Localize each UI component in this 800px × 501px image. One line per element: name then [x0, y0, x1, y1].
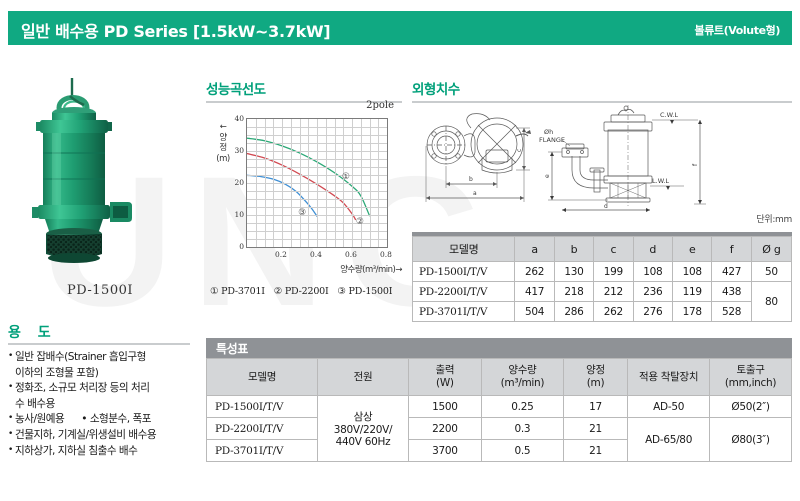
cell-output: 3700 — [408, 440, 481, 462]
usage-item-3: 수 배수용 — [15, 398, 55, 410]
cell-d: 236 — [633, 282, 672, 302]
performance-chart: 2pole ←양정(m) 010203040 ①②③ 0.20.40.60.8 … — [206, 100, 402, 315]
usage-item-0: 일반 잡배수(Strainer 흡입구형 — [15, 351, 146, 363]
col-header-output-line2: (W) — [436, 377, 454, 389]
page-header-bar: 일반 배수용 PD Series [1.5kW~3.7kW] 볼류트(Volut… — [8, 11, 792, 45]
dim-label-e: e — [544, 174, 551, 178]
usage-item-4: 농사/원예용 — [15, 413, 64, 425]
power-line-2: 380V/220V/ — [334, 424, 393, 436]
col-header-head-line2: (m) — [587, 377, 605, 389]
grid-line-horizontal — [247, 159, 387, 160]
table-header-row: 모델명 전원 출력 (W) 양수량 (m³/min) 양정 — [207, 359, 792, 396]
cell-e: 108 — [672, 262, 711, 282]
cell-e: 119 — [672, 282, 711, 302]
cell-model: PD-3701Ⅰ/T/V — [207, 440, 318, 462]
col-header-outlet: 토출구 (mm,inch) — [710, 359, 792, 396]
cell-a: 417 — [515, 282, 554, 302]
col-header-a: a — [515, 237, 554, 262]
cell-device: AD-65/80 — [628, 418, 710, 462]
dimension-drawings: c b a — [412, 100, 792, 220]
cell-a: 262 — [515, 262, 554, 282]
header-type-label: 볼류트(Volute형) — [694, 22, 780, 38]
cell-outlet: Ø50(2″) — [710, 396, 792, 418]
cell-head: 21 — [563, 418, 627, 440]
y-tick-label: 40 — [226, 114, 244, 123]
usage-item-1: 이하의 조형물 포함) — [15, 367, 98, 379]
col-header-f: f — [712, 237, 751, 262]
col-header-g: Ø g — [751, 237, 791, 262]
chart-y-ticks: 010203040 — [224, 100, 244, 270]
x-tick-label: 0.6 — [345, 250, 357, 259]
col-header-output-line1: 출력 — [436, 364, 455, 376]
cell-model: PD-3701Ⅰ/T/V — [413, 302, 515, 322]
spec-table-title: 특성표 — [206, 342, 248, 356]
product-datasheet-page: UNG 일반 배수용 PD Series [1.5kW~3.7kW] 볼류트(V… — [0, 0, 800, 501]
table-row: PD-1500Ⅰ/T/V 262 130 199 108 108 427 50 — [413, 262, 792, 282]
table-row: PD-2200Ⅰ/T/V 2200 0.3 21 AD-65/80 Ø80(3″… — [207, 418, 792, 440]
usage-list: 일반 잡배수(Strainer 흡입구형 이하의 조형물 포함) 정화조, 소규… — [8, 350, 200, 459]
x-tick-label: 0.2 — [275, 250, 287, 259]
dim-label-b: b — [469, 176, 473, 183]
cell-model: PD-2200Ⅰ/T/V — [207, 418, 318, 440]
dimension-table: 모델명 a b c d e f Ø g PD-1500Ⅰ/T/V 262 130… — [412, 232, 792, 322]
list-item: 정화조, 소규모 처리장 등의 처리 수 배수용 — [8, 381, 200, 412]
cell-d: 108 — [633, 262, 672, 282]
cell-model: PD-1500Ⅰ/T/V — [207, 396, 318, 418]
grid-line-horizontal — [247, 167, 387, 168]
cell-head: 21 — [563, 440, 627, 462]
col-header-model: 모델명 — [207, 359, 318, 396]
grid-line-horizontal — [247, 231, 387, 232]
power-line-3: 440V 60Hz — [336, 436, 391, 448]
cell-b: 130 — [554, 262, 593, 282]
dim-label-f: f — [692, 163, 699, 166]
grid-line-horizontal — [247, 151, 387, 152]
side-view-drawing: Øh FLANGE C.W.L L.W.L f — [539, 105, 706, 212]
power-line-1: 삼상 — [354, 411, 373, 423]
usage-title-rule — [8, 343, 190, 345]
grid-line-horizontal — [247, 191, 387, 192]
x-tick-label: 0.4 — [310, 250, 322, 259]
spec-table-header-bar: 특성표 — [206, 338, 792, 358]
section-title-text: 성능곡선도 — [206, 78, 402, 98]
specification-table: 모델명 전원 출력 (W) 양수량 (m³/min) 양정 — [206, 358, 792, 462]
legend-entry-2: ③ PD-1500Ⅰ — [337, 286, 392, 297]
col-header-e: e — [672, 237, 711, 262]
flange-diameter-label: Øh — [544, 128, 553, 136]
col-header-d: d — [633, 237, 672, 262]
table-row: PD-3701Ⅰ/T/V 504 286 262 276 178 528 — [413, 302, 792, 322]
usage-item-5: 소형분수, 폭포 — [90, 413, 151, 425]
grid-line-horizontal — [247, 199, 387, 200]
cell-a: 504 — [515, 302, 554, 322]
cell-device: AD-50 — [628, 396, 710, 418]
y-tick-label: 10 — [226, 210, 244, 219]
list-item: 일반 잡배수(Strainer 흡입구형 이하의 조형물 포함) — [8, 350, 200, 381]
chart-annotation-pole: 2pole — [366, 100, 394, 111]
dim-label-c: c — [516, 149, 523, 152]
col-header-power: 전원 — [318, 359, 409, 396]
grid-line-horizontal — [247, 127, 387, 128]
grid-line-horizontal — [247, 143, 387, 144]
list-item: 건물지하, 기계실/위생설비 배수용 — [8, 428, 200, 444]
col-header-b: b — [554, 237, 593, 262]
section-title-text: 외형치수 — [412, 78, 792, 98]
product-photo — [12, 78, 188, 288]
grid-line-horizontal — [247, 183, 387, 184]
cell-d: 276 — [633, 302, 672, 322]
chart-legend: ① PD-3701Ⅰ ② PD-2200Ⅰ ③ PD-1500Ⅰ — [210, 286, 402, 297]
grid-line-horizontal — [247, 239, 387, 240]
col-header-outlet-line2: (mm,inch) — [725, 377, 776, 389]
top-view-drawing: c b a — [426, 114, 531, 202]
cell-c: 212 — [594, 282, 633, 302]
dim-label-d: d — [604, 203, 608, 210]
unit-note: 단위:mm — [756, 212, 792, 225]
cell-f: 438 — [712, 282, 751, 302]
usage-item-7: 지하상가, 지하실 침출수 배수 — [15, 445, 137, 457]
cell-output: 1500 — [408, 396, 481, 418]
col-header-device: 적용 착탈장치 — [628, 359, 710, 396]
cell-output: 2200 — [408, 418, 481, 440]
cell-c: 199 — [594, 262, 633, 282]
chart-x-ticks: 0.20.40.60.8 — [206, 250, 402, 264]
col-header-device-line1: 적용 착탈장치 — [639, 371, 698, 383]
list-item: • 소형분수, 폭포 — [81, 412, 151, 428]
list-item: 농사/원예용 • 소형분수, 폭포 — [8, 412, 200, 428]
cell-head: 17 — [563, 396, 627, 418]
legend-entry-1: ② PD-2200Ⅰ — [274, 286, 329, 297]
grid-line-horizontal — [247, 207, 387, 208]
cell-g: 50 — [751, 262, 791, 282]
table-header-row: 모델명 a b c d e f Ø g — [413, 237, 792, 262]
legend-entry-0: ① PD-3701Ⅰ — [210, 286, 265, 297]
usage-item-6: 건물지하, 기계실/위생설비 배수용 — [15, 429, 156, 441]
lwl-label: L.W.L — [652, 177, 669, 185]
col-header-flow: 양수량 (m³/min) — [481, 359, 563, 396]
y-tick-label: 20 — [226, 178, 244, 187]
table-row: PD-1500Ⅰ/T/V 삼상 380V/220V/ 440V 60Hz 150… — [207, 396, 792, 418]
table-row: PD-2200Ⅰ/T/V 417 218 212 236 119 438 80 — [413, 282, 792, 302]
cell-f: 427 — [712, 262, 751, 282]
col-header-head: 양정 (m) — [563, 359, 627, 396]
curve-marker-②: ② — [356, 217, 364, 227]
col-header-output: 출력 (W) — [408, 359, 481, 396]
grid-line-horizontal — [247, 135, 387, 136]
chart-plot-area: ①②③ — [246, 118, 388, 248]
cell-model: PD-1500Ⅰ/T/V — [413, 262, 515, 282]
cell-flow: 0.5 — [481, 440, 563, 462]
x-tick-label: 0.8 — [380, 250, 392, 259]
cell-b: 218 — [554, 282, 593, 302]
col-header-power-line1: 전원 — [354, 371, 373, 383]
usage-item-2: 정화조, 소규모 처리장 등의 처리 — [15, 382, 150, 394]
cell-b: 286 — [554, 302, 593, 322]
cwl-label: C.W.L — [660, 111, 678, 119]
cell-model: PD-2200Ⅰ/T/V — [413, 282, 515, 302]
y-tick-label: 30 — [226, 146, 244, 155]
col-header-flow-line1: 양수량 — [508, 364, 536, 376]
col-header-model-line1: 모델명 — [248, 371, 276, 383]
grid-line-horizontal — [247, 223, 387, 224]
grid-line-horizontal — [247, 175, 387, 176]
grid-line-horizontal — [247, 215, 387, 216]
cell-outlet: Ø80(3″) — [710, 418, 792, 462]
col-header-model: 모델명 — [413, 237, 515, 262]
cell-c: 262 — [594, 302, 633, 322]
dim-label-a: a — [473, 190, 477, 197]
col-header-outlet-line1: 토출구 — [736, 364, 764, 376]
cell-e: 178 — [672, 302, 711, 322]
list-item: 지하상가, 지하실 침출수 배수 — [8, 444, 200, 460]
chart-x-axis-label: 양수량(m³/min)→ — [340, 263, 402, 275]
curve-marker-①: ① — [342, 172, 350, 182]
page-title: 일반 배수용 PD Series [1.5kW~3.7kW] — [21, 18, 330, 42]
cell-power-supply: 삼상 380V/220V/ 440V 60Hz — [318, 396, 409, 462]
cell-g: 80 — [751, 282, 791, 322]
cell-flow: 0.25 — [481, 396, 563, 418]
col-header-c: c — [594, 237, 633, 262]
flange-label: FLANGE — [539, 136, 565, 144]
cell-f: 528 — [712, 302, 751, 322]
cell-flow: 0.3 — [481, 418, 563, 440]
curve-marker-③: ③ — [298, 208, 306, 218]
usage-title: 용 도 — [8, 322, 57, 342]
col-header-flow-line2: (m³/min) — [501, 377, 545, 389]
col-header-head-line1: 양정 — [586, 364, 605, 376]
